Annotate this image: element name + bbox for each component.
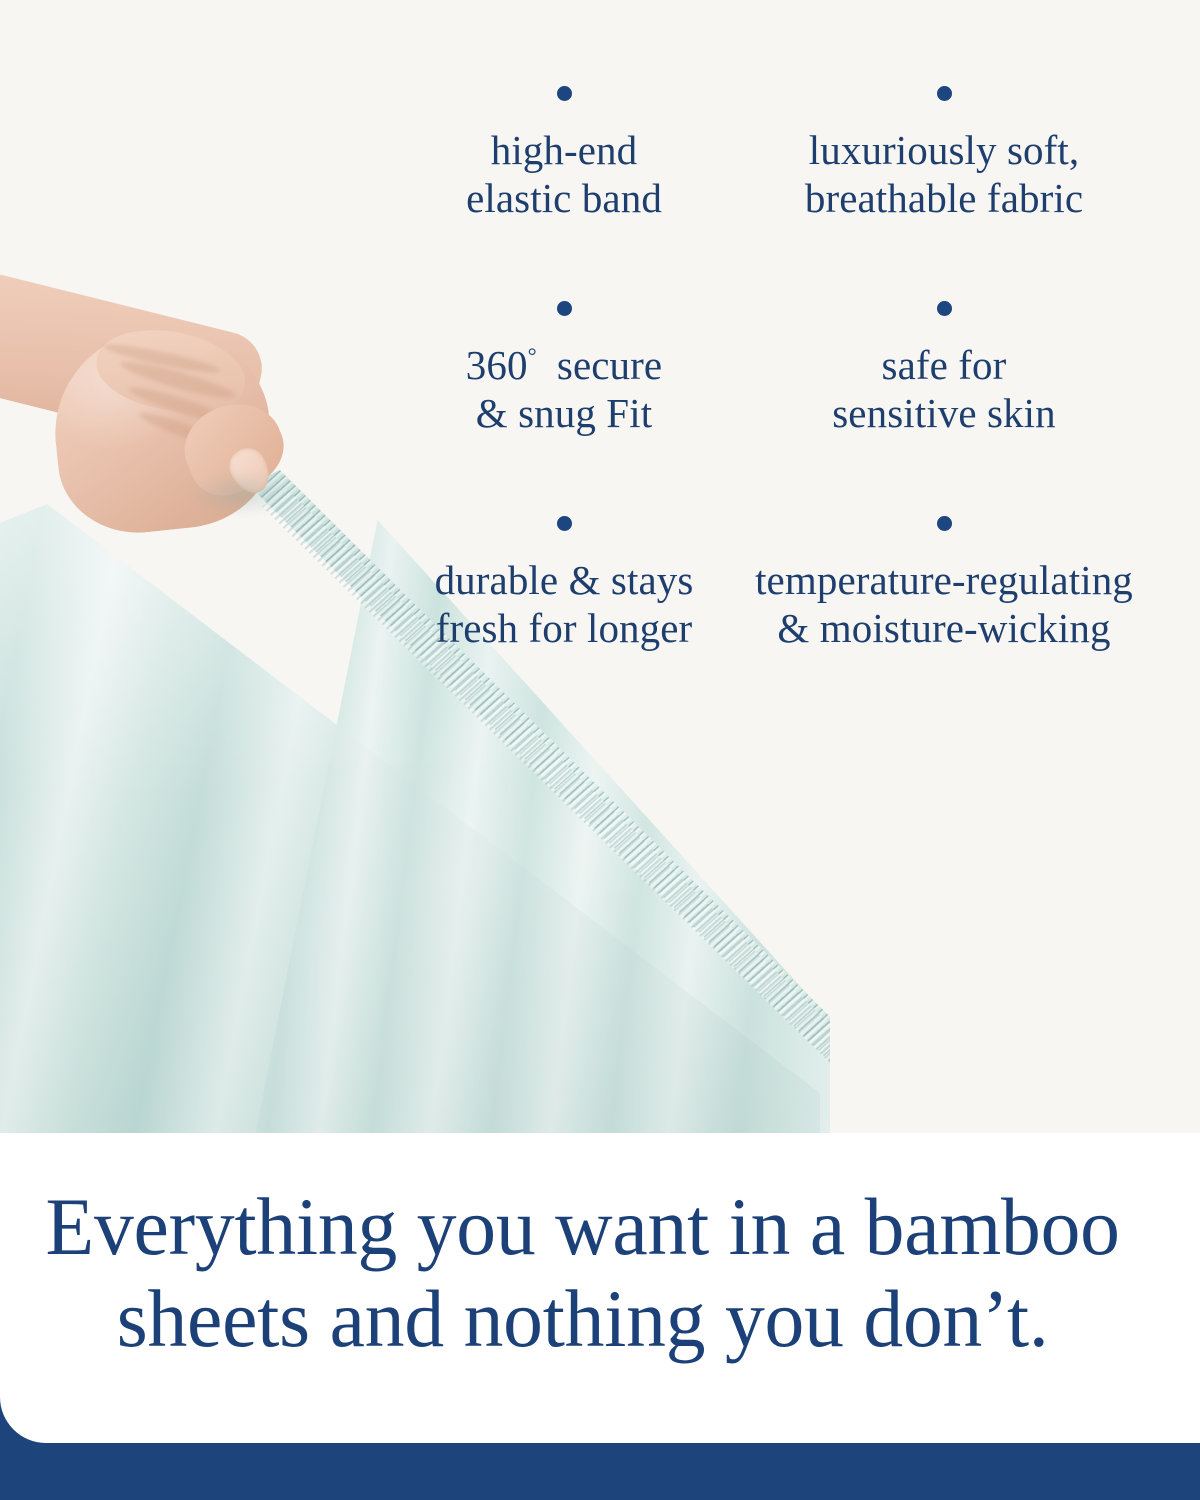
feature-label: luxuriously soft, breathable fabric <box>805 127 1083 223</box>
bullet-dot-icon <box>557 516 572 531</box>
hero-section: high-end elastic band luxuriously soft, … <box>0 0 1200 1133</box>
headline-card: Everything you want in a bamboo sheets a… <box>0 1133 1200 1443</box>
feature-high-end-elastic-band: high-end elastic band <box>404 86 724 301</box>
feature-safe-for-sensitive-skin: safe for sensitive skin <box>744 301 1144 516</box>
pinch-shadow <box>170 470 310 530</box>
feature-list: high-end elastic band luxuriously soft, … <box>404 86 1164 731</box>
bullet-dot-icon <box>937 301 952 316</box>
feature-label: 360° secure & snug Fit <box>466 342 662 438</box>
bullet-dot-icon <box>937 516 952 531</box>
feature-360-secure-snug-fit: 360° secure & snug Fit <box>404 301 724 516</box>
footer-band <box>0 1443 1200 1500</box>
feature-luxuriously-soft: luxuriously soft, breathable fabric <box>744 86 1144 301</box>
headline-text: Everything you want in a bamboo sheets a… <box>22 1181 1143 1365</box>
bullet-dot-icon <box>937 86 952 101</box>
feature-label: safe for sensitive skin <box>832 342 1055 438</box>
feature-durable-stays-fresh: durable & stays fresh for longer <box>404 516 724 731</box>
feature-label-number: 360 <box>466 342 528 388</box>
bullet-dot-icon <box>557 301 572 316</box>
feature-label: temperature-regulating & moisture-wickin… <box>755 557 1133 653</box>
degree-symbol-icon: ° <box>528 343 547 368</box>
feature-label: durable & stays fresh for longer <box>435 557 694 653</box>
feature-label: high-end elastic band <box>466 127 662 223</box>
bullet-dot-icon <box>557 86 572 101</box>
feature-temperature-regulating: temperature-regulating & moisture-wickin… <box>744 516 1144 731</box>
infographic-page: high-end elastic band luxuriously soft, … <box>0 0 1200 1500</box>
